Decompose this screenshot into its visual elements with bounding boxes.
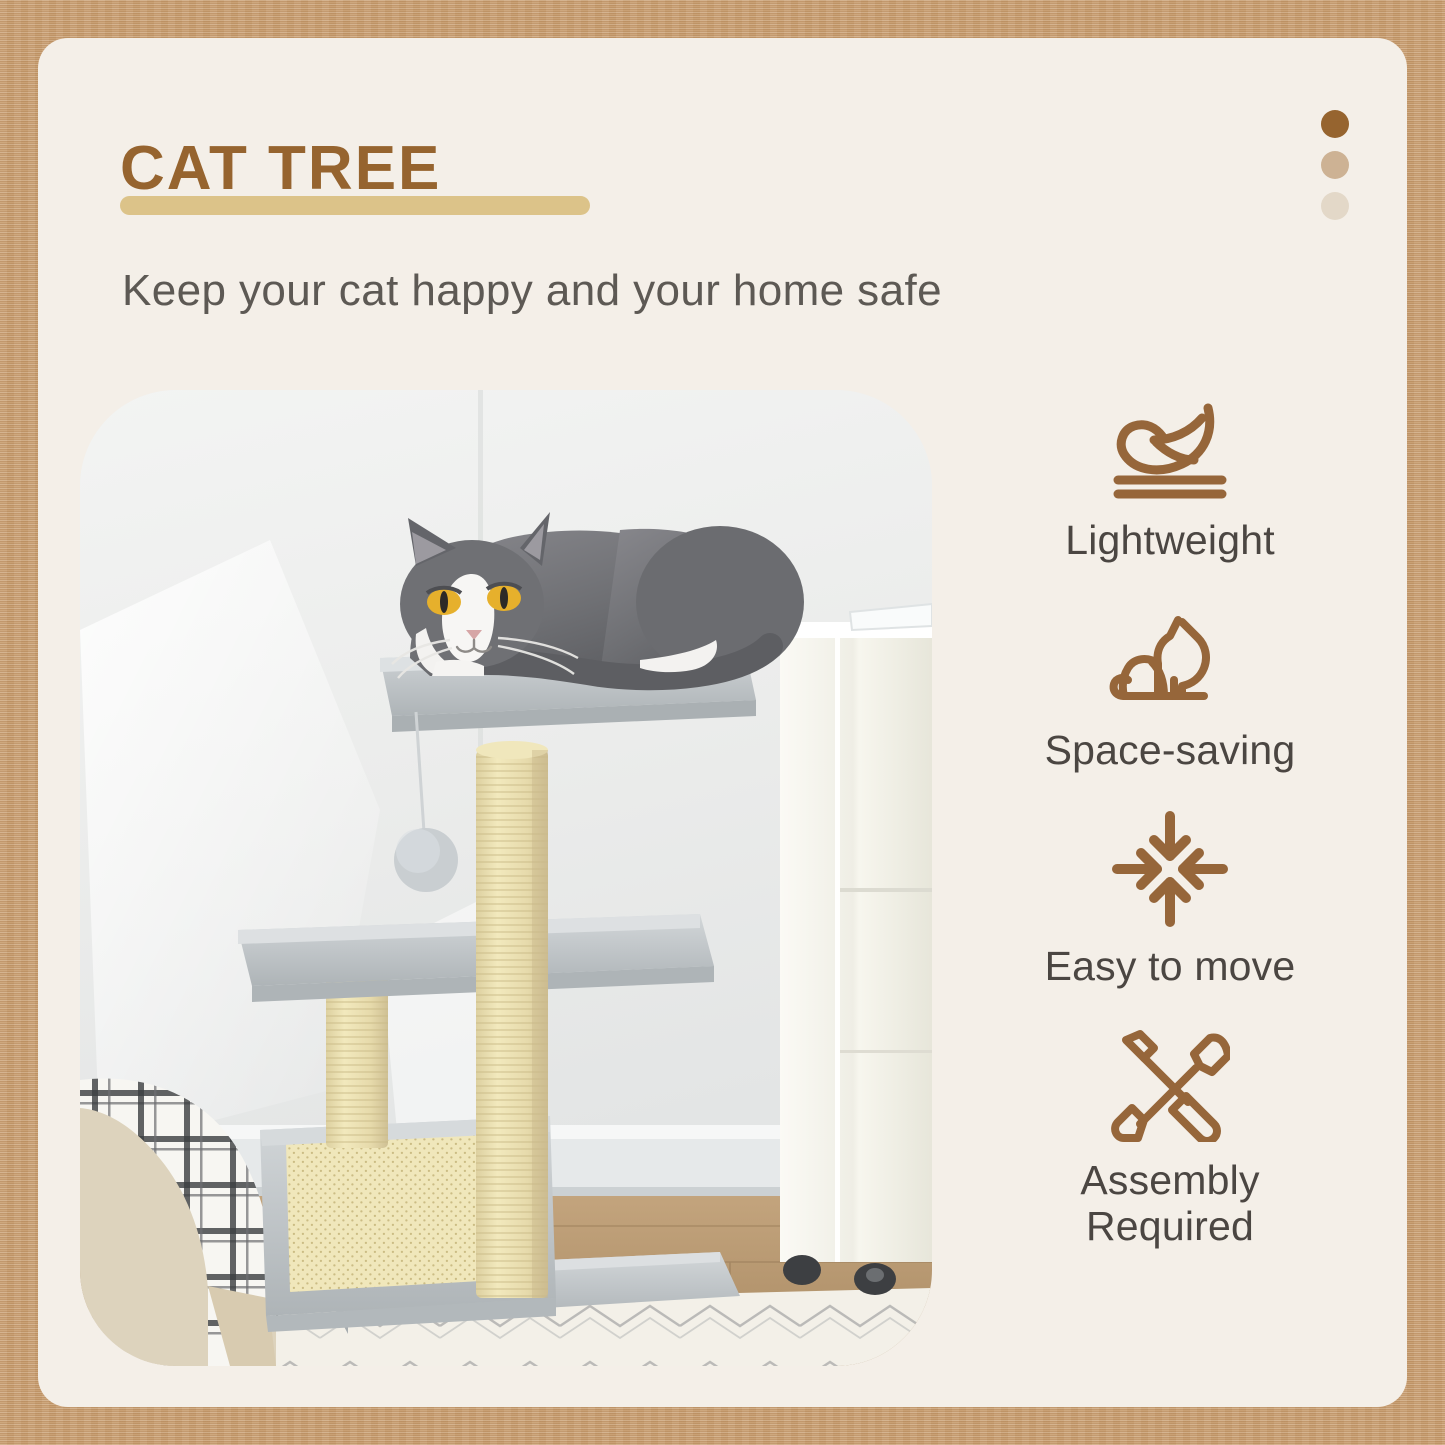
feature-easy-to-move: Easy to move	[970, 810, 1370, 990]
compress-arrows-icon	[1111, 810, 1229, 928]
title-block: CAT TREE	[120, 138, 441, 200]
dot-medium-icon	[1321, 151, 1349, 179]
product-photo	[80, 390, 932, 1366]
feature-space-saving: Space-saving	[970, 602, 1370, 774]
feature-label: Easy to move	[1045, 944, 1296, 990]
content-card: CAT TREE Keep your cat happy and your ho…	[38, 38, 1407, 1407]
feature-label: Space-saving	[1045, 728, 1296, 774]
feature-label: AssemblyRequired	[1080, 1158, 1259, 1250]
dot-light-icon	[1321, 192, 1349, 220]
subtitle: Keep your cat happy and your home safe	[122, 266, 942, 316]
assembly-line-1: Assembly	[1080, 1157, 1259, 1203]
feature-assembly-required: AssemblyRequired	[970, 1024, 1370, 1250]
cabinet	[780, 604, 932, 1295]
dot-dark-icon	[1321, 110, 1349, 138]
poster-root: CAT TREE Keep your cat happy and your ho…	[0, 0, 1445, 1445]
page-title: CAT TREE	[120, 138, 441, 200]
feature-label: Lightweight	[1065, 518, 1275, 564]
sitting-cat-icon	[1108, 602, 1232, 712]
decorative-dot-stack	[1321, 110, 1349, 220]
feather-lightweight-icon	[1104, 398, 1236, 502]
feature-lightweight: Lightweight	[970, 398, 1370, 564]
assembly-line-2: Required	[1086, 1203, 1254, 1249]
product-photo-illustration	[80, 390, 932, 1366]
feature-list: Lightweight Space-saving	[970, 398, 1370, 1378]
wrench-screwdriver-icon	[1110, 1024, 1230, 1142]
